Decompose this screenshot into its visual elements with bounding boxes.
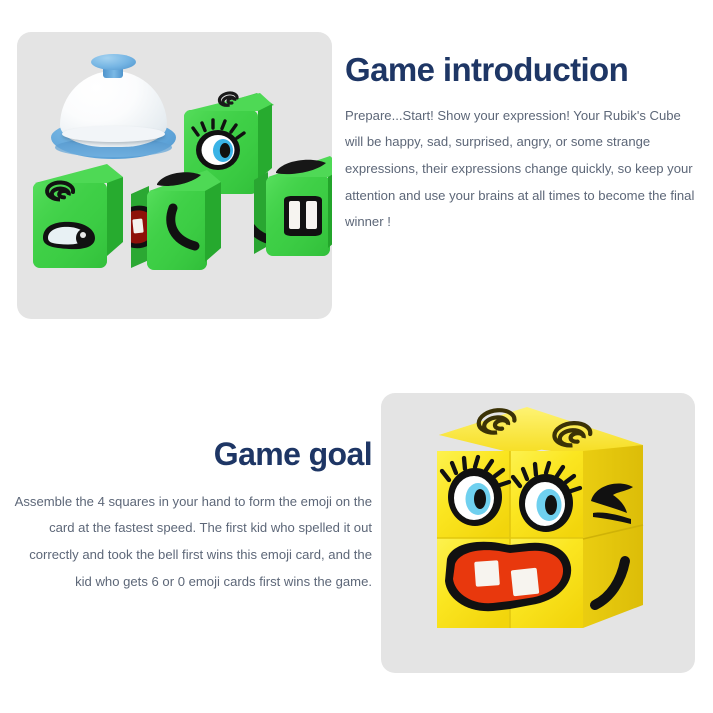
mouth-cube-art xyxy=(129,164,221,274)
service-bell xyxy=(51,54,176,159)
game-goal-body: Assemble the 4 squares in your hand to f… xyxy=(12,489,372,596)
game-introduction-section: Game introduction Prepare...Start! Show … xyxy=(345,52,701,236)
product-description-page: Game introduction Prepare...Start! Show … xyxy=(0,0,713,713)
green-cube-teeth xyxy=(254,154,332,264)
game-introduction-body: Prepare...Start! Show your expression! Y… xyxy=(345,103,701,237)
game-introduction-title: Game introduction xyxy=(345,52,701,88)
green-cubes-scene xyxy=(17,32,332,319)
sleepy-eye-cube-art xyxy=(31,160,126,270)
bell-dome-rim xyxy=(62,126,165,142)
bell-knob xyxy=(91,54,136,70)
yellow-photo-caption: Four yellow emoji puzzle cubes assembled… xyxy=(0,0,1,1)
game-goal-title: Game goal xyxy=(12,437,372,472)
green-cube-mouth xyxy=(129,164,221,274)
yellow-cubes-scene xyxy=(381,393,695,673)
yellow-cubes-photo xyxy=(381,393,695,673)
teeth-icon xyxy=(284,196,322,236)
green-photo-caption: Four green emoji puzzle cubes scattered … xyxy=(0,0,1,1)
teeth-cube-art xyxy=(254,154,332,264)
green-cubes-photo xyxy=(17,32,332,319)
game-goal-section: Game goal Assemble the 4 squares in your… xyxy=(12,437,372,595)
yellow-face-art xyxy=(381,393,695,673)
green-cube-sleepy-eye xyxy=(31,160,126,270)
